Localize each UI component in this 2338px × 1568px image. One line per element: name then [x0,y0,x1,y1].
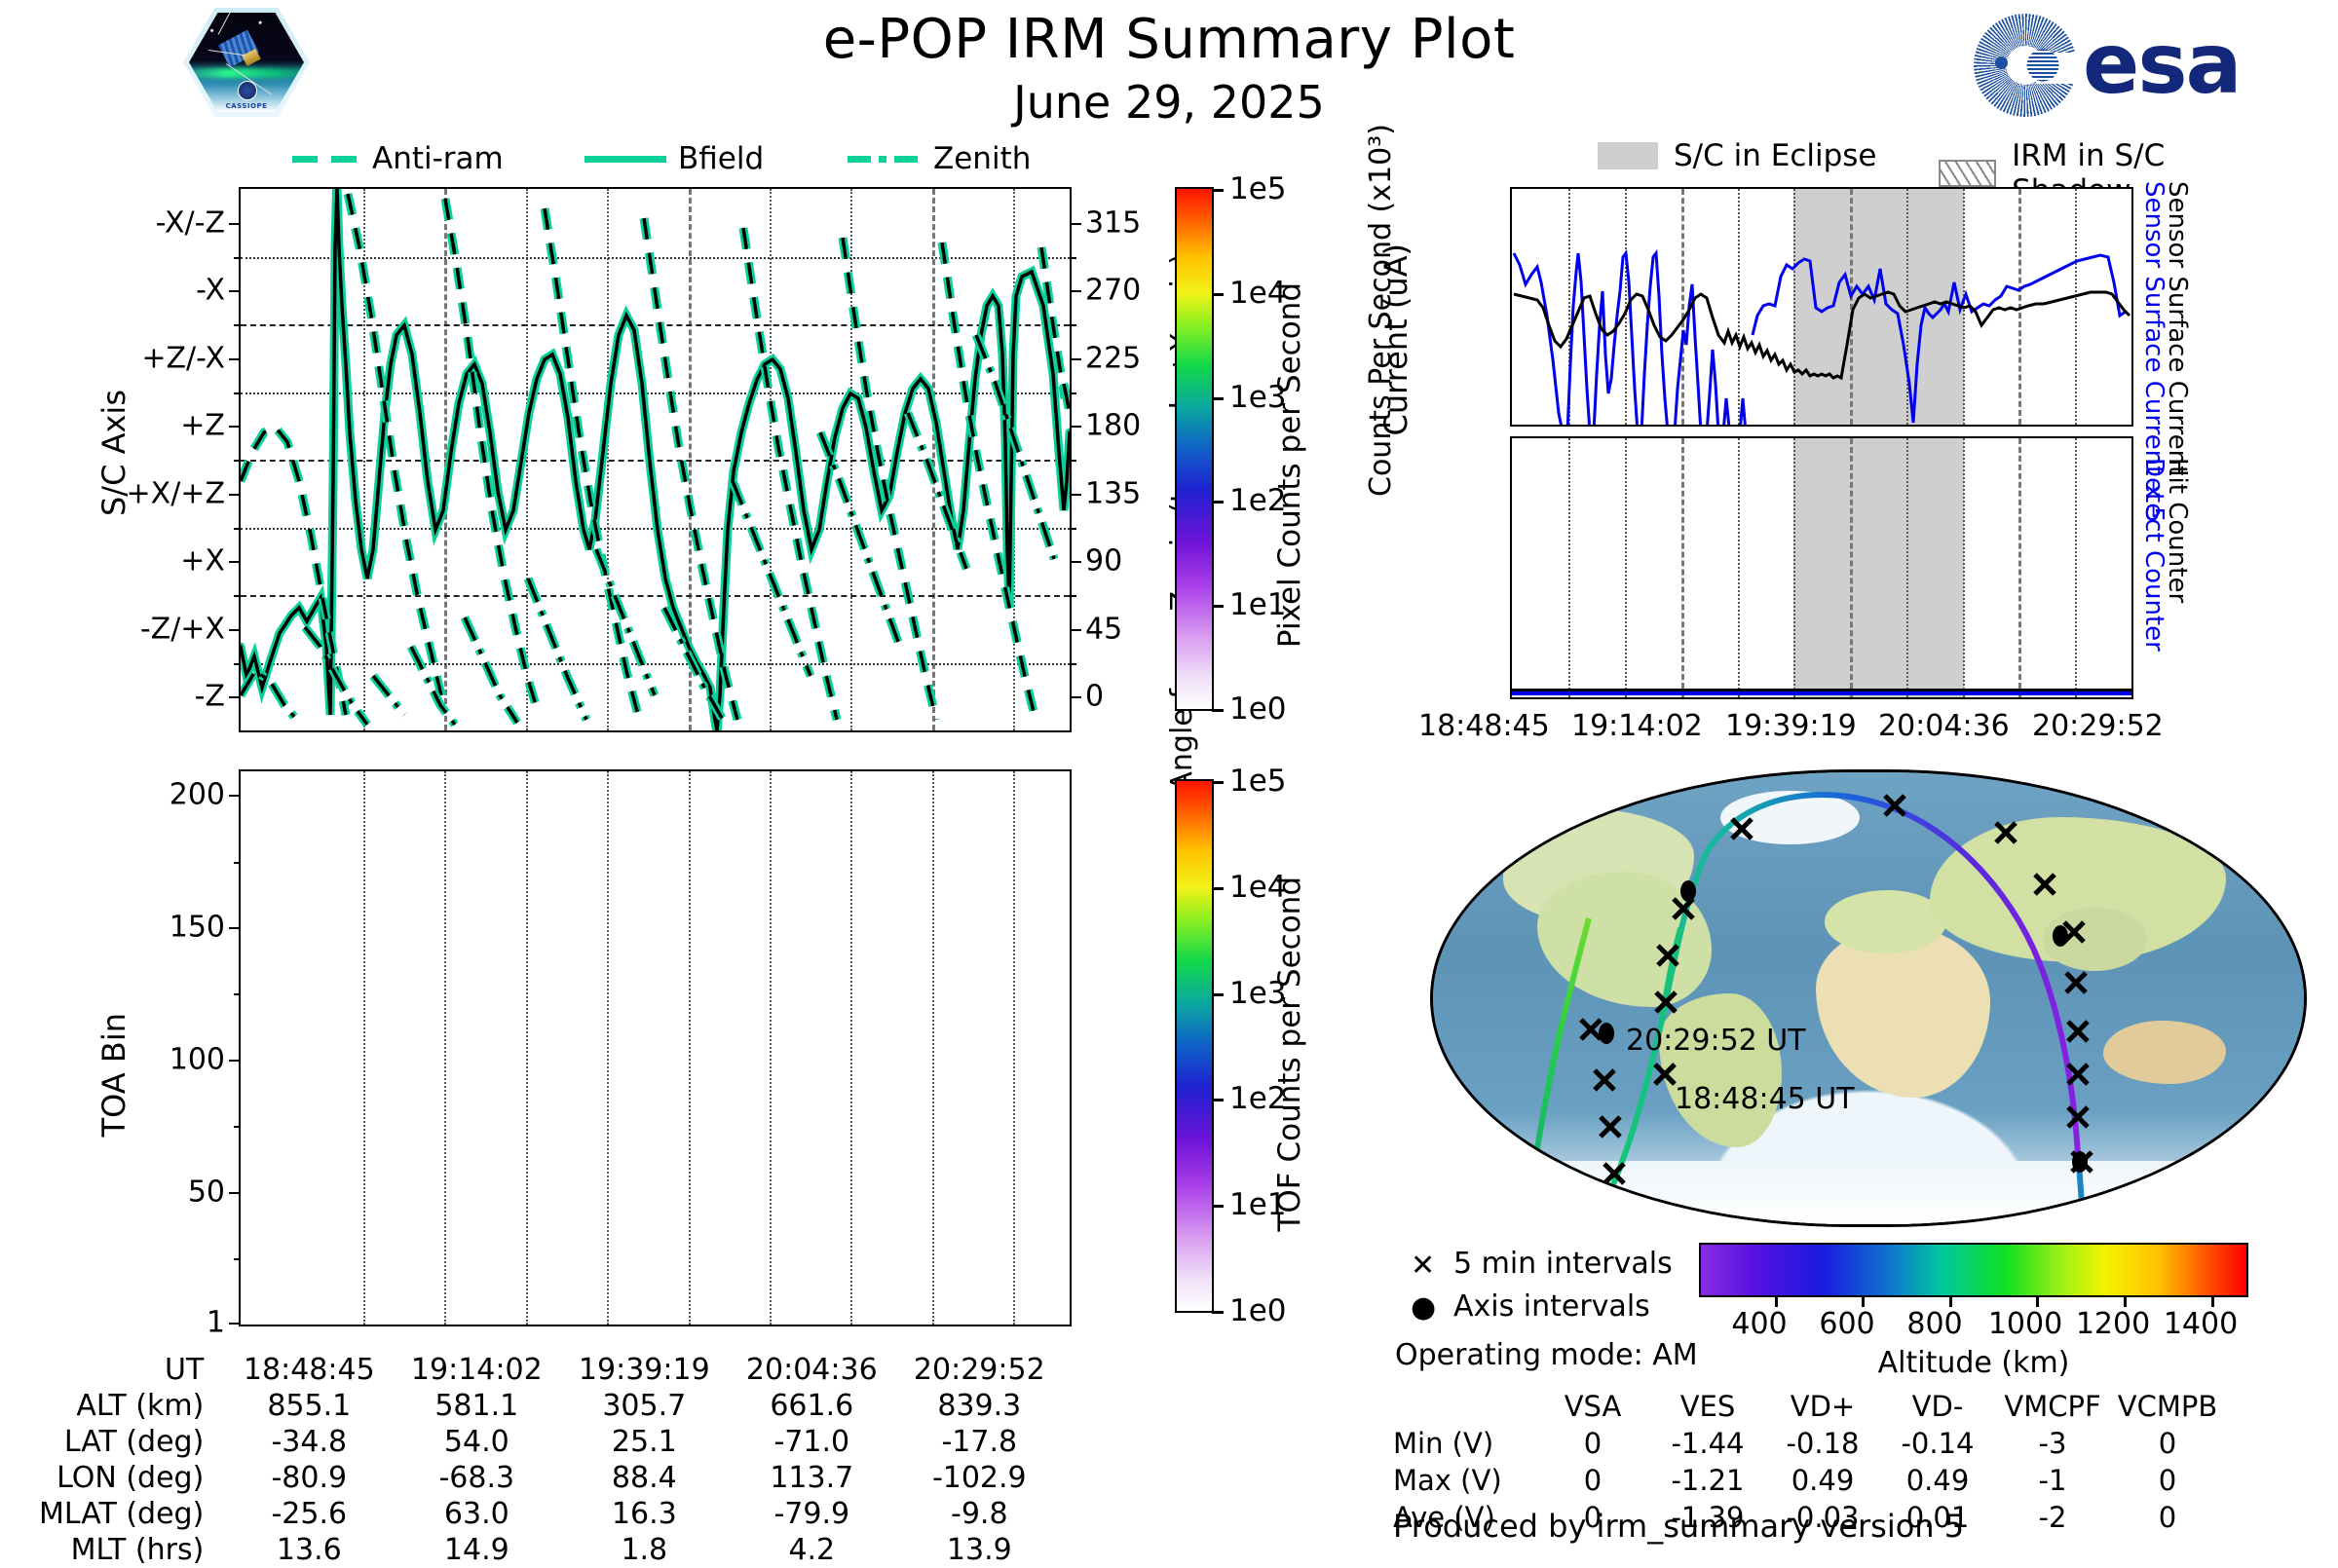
tof-cb-tick-0: 1e5 [1229,764,1287,799]
map-legend-cross-label: 5 min intervals [1453,1247,1673,1281]
min-vmcpf: -3 [1995,1425,2110,1462]
toa-ytick-50: 50 [188,1175,225,1209]
tof-counts-colorbar: 1e5 1e4 1e3 1e2 1e1 1e0 [1175,779,1214,1313]
legend-label-zenith: Zenith [933,141,1031,176]
altitude-colorbar [1699,1243,2248,1297]
toa-ytick-1: 1 [207,1306,225,1340]
lon-c1: -68.3 [393,1460,560,1496]
vrow-label-min: Min (V) [1393,1425,1535,1462]
pixel-cb-tick-5: 1e0 [1229,691,1287,727]
row-label-lon: LON (deg) [39,1460,225,1496]
current-ylabel-right-black: Sensor Surface Current [2163,181,2192,475]
altitude-tick-400: 400 [1730,1307,1789,1341]
lat-c2: 25.1 [560,1424,728,1460]
map-legend-dot-icon: ● [1411,1290,1436,1325]
table-row: UT 18:48:45 19:14:02 19:39:19 20:04:36 2… [39,1352,1063,1388]
ground-track-map: 20:29:52 UT 18:48:45 UT [1430,769,2307,1227]
operating-mode-label: Operating mode: AM [1395,1338,1698,1372]
mlt-c4: 13.9 [895,1532,1063,1568]
legend-swatch-bfield [584,156,666,163]
sc-axis-angle-tick-0: 315 [1085,205,1141,240]
alt-c0: 855.1 [225,1388,393,1424]
vcol-vmcpf: VMCPF [1995,1388,2110,1425]
table-row: MLT (hrs) 13.6 14.9 1.8 4.2 13.9 [39,1532,1063,1568]
cassiope-logo: CASSIOPE [183,8,310,117]
row-label-alt: ALT (km) [39,1388,225,1424]
table-row: MLAT (deg) -25.6 63.0 16.3 -79.9 -9.8 [39,1496,1063,1532]
sc-axis-angle-tick-7: 0 [1085,680,1104,714]
vcol-vdm: VD- [1880,1388,1995,1425]
mlat-c2: 16.3 [560,1496,728,1532]
counts-xtick-1: 19:14:02 [1571,709,1703,743]
cassiope-logo-text: CASSIOPE [189,102,304,110]
orbit-track [1433,772,2304,1224]
min-vsa: 0 [1535,1425,1650,1462]
vrow-label-max: Max (V) [1393,1462,1535,1499]
sc-axis-traces [241,189,1070,730]
mlat-c3: -79.9 [728,1496,895,1532]
legend-swatch-shadow [1939,160,1996,187]
esa-dot-icon [1995,56,2008,69]
ut-c4: 20:29:52 [895,1352,1063,1388]
lat-c4: -17.8 [895,1424,1063,1460]
legend-swatch-eclipse [1598,142,1658,169]
sc-axis-ytick-6: -Z/+X [140,612,225,646]
pixel-counts-colorbar-label: Pixel Counts per Second [1272,282,1307,648]
row-label-mlat: MLAT (deg) [39,1496,225,1532]
table-row: LON (deg) -80.9 -68.3 88.4 113.7 -102.9 [39,1460,1063,1496]
toa-bin-plot: 200 150 100 50 1 [239,769,1072,1326]
lon-c2: 88.4 [560,1460,728,1496]
altitude-tick-1200: 1200 [2075,1307,2151,1341]
row-label-ut: UT [39,1352,225,1388]
min-vdp: -0.18 [1765,1425,1880,1462]
toa-ytick-150: 150 [170,911,225,945]
pixel-cb-tick-0: 1e5 [1229,171,1287,206]
sc-axis-ytick-0: -X/-Z [156,205,225,240]
ephemeris-table: UT 18:48:45 19:14:02 19:39:19 20:04:36 2… [39,1352,1063,1568]
table-row: LAT (deg) -34.8 54.0 25.1 -71.0 -17.8 [39,1424,1063,1460]
tof-cb-tick-5: 1e0 [1229,1293,1287,1328]
legend-label-bfield: Bfield [678,141,764,176]
map-start-label: 18:48:45 UT [1675,1082,1855,1116]
mlat-c1: 63.0 [393,1496,560,1532]
max-vdm: 0.49 [1880,1462,1995,1499]
lat-c1: 54.0 [393,1424,560,1460]
min-ves: -1.44 [1650,1425,1765,1462]
sc-axis-legend: Anti-ram Bfield Zenith [292,141,1052,180]
vcol-vsa: VSA [1535,1388,1650,1425]
esa-wordmark: esa [2083,16,2241,113]
counts-xtick-3: 20:04:36 [1878,709,2010,743]
sc-axis-angle-tick-6: 45 [1085,612,1122,646]
tof-counts-colorbar-label: TOF Counts per Second [1272,877,1307,1232]
mlt-c2: 1.8 [560,1532,728,1568]
lon-c4: -102.9 [895,1460,1063,1496]
sc-axis-ytick-4: +X/+Z [127,476,225,510]
sc-axis-ytick-5: +X [180,544,225,579]
toa-ytick-100: 100 [170,1042,225,1076]
lat-c3: -71.0 [728,1424,895,1460]
max-vsa: 0 [1535,1462,1650,1499]
legend-label-eclipse: S/C in Eclipse [1674,138,1877,173]
max-vcmpb: 0 [2110,1462,2225,1499]
alt-c1: 581.1 [393,1388,560,1424]
ut-c0: 18:48:45 [225,1352,393,1388]
mlat-c0: -25.6 [225,1496,393,1532]
min-vdm: -0.14 [1880,1425,1995,1462]
counts-xtick-4: 20:29:52 [2032,709,2164,743]
altitude-colorbar-label: Altitude (km) [1699,1346,2248,1380]
sc-axis-plot: -X/-Z -X +Z/-X +Z +X/+Z +X -Z/+X -Z 315 … [239,187,1072,732]
map-end-label: 20:29:52 UT [1626,1024,1806,1058]
max-vmcpf: -1 [1995,1462,2110,1499]
legend-label-anti-ram: Anti-ram [372,141,504,176]
vcol-vdp: VD+ [1765,1388,1880,1425]
sc-axis-ylabel-left: S/C Axis [95,390,132,516]
lat-c0: -34.8 [225,1424,393,1460]
lon-c3: 113.7 [728,1460,895,1496]
ut-c3: 20:04:36 [728,1352,895,1388]
altitude-tick-1400: 1400 [2163,1307,2239,1341]
counts-per-second-plot: 1.00 0.75 0.50 0.25 0.00 [1510,436,2133,699]
current-traces [1512,189,2131,425]
sc-axis-ytick-3: +Z [180,409,225,443]
sc-axis-ytick-7: -Z [195,680,225,714]
mlat-c4: -9.8 [895,1496,1063,1532]
map-legend-cross-icon: ✕ [1411,1249,1435,1283]
vcol-ves: VES [1650,1388,1765,1425]
mlt-c1: 14.9 [393,1532,560,1568]
altitude-tick-1000: 1000 [1987,1307,2063,1341]
esa-inner-e-icon [2018,41,2067,90]
altitude-tick-800: 800 [1905,1307,1964,1341]
legend-swatch-zenith [848,156,922,163]
ave-vmcpf: -2 [1995,1499,2110,1536]
sc-axis-ytick-2: +Z/-X [141,341,225,375]
sc-axis-ytick-1: -X [196,274,225,308]
altitude-tick-600: 600 [1818,1307,1876,1341]
mlt-c3: 4.2 [728,1532,895,1568]
ave-vcmpb: 0 [2110,1499,2225,1536]
toa-ytick-200: 200 [170,778,225,812]
sc-axis-angle-tick-2: 225 [1085,341,1141,375]
ut-c2: 19:39:19 [560,1352,728,1388]
alt-c3: 661.6 [728,1388,895,1424]
table-header-row: VSA VES VD+ VD- VMCPF VCMPB [1393,1388,2225,1425]
esa-logo: esa [1974,12,2295,119]
alt-c4: 839.3 [895,1388,1063,1424]
table-row: Max (V) 0 -1.21 0.49 0.49 -1 0 [1393,1462,2225,1499]
produced-by-label: Produced by irm_summary version 5 [1393,1508,1964,1545]
sc-axis-angle-tick-1: 270 [1085,274,1141,308]
row-label-lat: LAT (deg) [39,1424,225,1460]
sc-axis-angle-tick-5: 90 [1085,544,1122,579]
row-label-mlt: MLT (hrs) [39,1532,225,1568]
vcol-vcmpb: VCMPB [2110,1388,2225,1425]
sc-axis-angle-tick-3: 180 [1085,409,1141,443]
min-vcmpb: 0 [2110,1425,2225,1462]
map-legend-dot-label: Axis intervals [1453,1289,1650,1324]
sc-axis-angle-tick-4: 135 [1085,476,1141,510]
toa-ylabel: TOA Bin [95,1013,132,1137]
legend-swatch-anti-ram [292,156,360,163]
counts-xtick-2: 19:39:19 [1725,709,1857,743]
table-row: ALT (km) 855.1 581.1 305.7 661.6 839.3 [39,1388,1063,1424]
alt-c2: 305.7 [560,1388,728,1424]
mlt-c0: 13.6 [225,1532,393,1568]
pixel-counts-colorbar: 1e5 1e4 1e3 1e2 1e1 1e0 [1175,187,1214,711]
ut-c1: 19:14:02 [393,1352,560,1388]
max-ves: -1.21 [1650,1462,1765,1499]
sensor-current-plot: 10 5 0 -5 -10 [1510,187,2133,427]
counts-xtick-0: 18:48:45 [1418,709,1550,743]
max-vdp: 0.49 [1765,1462,1880,1499]
table-row: Min (V) 0 -1.44 -0.18 -0.14 -3 0 [1393,1425,2225,1462]
eclipse-legend: S/C in Eclipse IRM in S/C Shadow [1520,138,2280,177]
lon-c0: -80.9 [225,1460,393,1496]
counts-ylabel-right-black: Hit Counter [2163,458,2192,603]
